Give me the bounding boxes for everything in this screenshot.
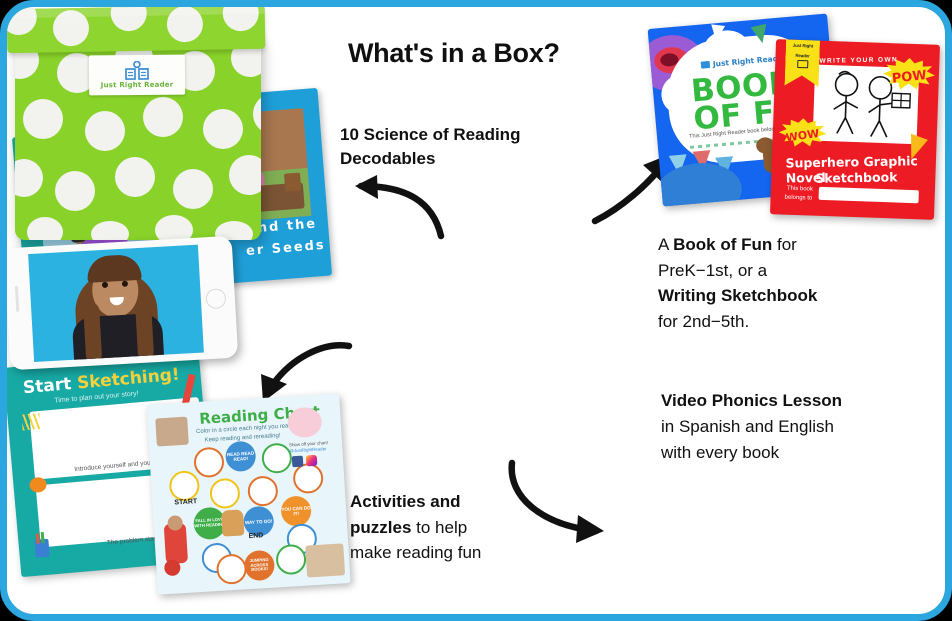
act-l2c: to help bbox=[411, 518, 467, 537]
book-of-fun-logo-icon bbox=[701, 61, 711, 69]
chart-start-label: START bbox=[174, 498, 197, 506]
poster-canvas: What's in a Box? Just Right Reader bbox=[0, 0, 952, 621]
bubble-label: READ READ READ! bbox=[225, 451, 256, 463]
callout-video-phonics: Video Phonics Lesson in Spanish and Engl… bbox=[661, 388, 911, 465]
bubble-label: WAY TO GO! bbox=[245, 518, 273, 525]
mailer-pouch: Just Right Reader bbox=[7, 7, 269, 242]
callout-activities: Activities and puzzles to help make read… bbox=[350, 489, 560, 566]
page-title: What's in a Box? bbox=[348, 38, 560, 69]
decodables-line2: Decodables bbox=[340, 147, 570, 171]
sketching-title-b: Sketching! bbox=[76, 365, 180, 394]
vp-l2: in Spanish and English bbox=[661, 414, 911, 440]
share-line2: @JustRightReader bbox=[289, 446, 326, 453]
sketchbook-top-text: WRITE YOUR OWN bbox=[819, 56, 898, 64]
video-phone bbox=[4, 236, 238, 371]
dog-sticker bbox=[221, 509, 245, 536]
phone-screen bbox=[28, 245, 204, 362]
wow-label: WOW bbox=[785, 126, 820, 144]
vp-l1: Video Phonics Lesson bbox=[661, 388, 911, 414]
sketchbook-cover: WRITE YOUR OWN POW WOW Superhero Graphic… bbox=[770, 39, 940, 220]
callout-decodables: 10 Science of Reading Decodables bbox=[340, 123, 570, 171]
chart-bubble: READ READ READ! bbox=[225, 441, 257, 473]
student-photo-2 bbox=[305, 543, 345, 577]
chart-bubble: YOU CAN DO IT! bbox=[280, 495, 312, 527]
bof-l2: PreK−1st, or a bbox=[658, 258, 908, 284]
vp-l3: with every book bbox=[661, 440, 911, 466]
arrow-to-decodables bbox=[337, 172, 447, 240]
mailer-label: Just Right Reader bbox=[89, 55, 185, 96]
belongs-line1: This book bbox=[787, 186, 813, 193]
bubble-label: YOU CAN DO IT! bbox=[281, 505, 312, 517]
chart-bubble: JUMPING ACROSS BOOKS! bbox=[243, 550, 275, 582]
reading-chart-sheet: Reading Chart Color in a circle each nig… bbox=[146, 393, 350, 594]
decodables-line1: 10 Science of Reading bbox=[340, 123, 570, 147]
bof-l4: for 2nd−5th. bbox=[658, 309, 908, 335]
bubble-label: JUMPING ACROSS BOOKS! bbox=[244, 558, 275, 574]
instagram-icon bbox=[306, 455, 318, 467]
student-photo-1 bbox=[155, 417, 189, 447]
brand-ribbon-icon: Just Right Reader bbox=[784, 39, 820, 87]
sketchbook-title-line2: Sketchbook bbox=[815, 169, 897, 185]
unicorn-sticker bbox=[287, 406, 323, 438]
callout-book-of-fun: A Book of Fun for PreK−1st, or a Writing… bbox=[658, 232, 908, 334]
ribbon-line2: Reader bbox=[785, 48, 819, 59]
ribbon-book-icon bbox=[797, 60, 808, 68]
act-l1: Activities and bbox=[350, 489, 560, 515]
open-book-icon bbox=[124, 61, 150, 81]
belongs-write-in-bar bbox=[819, 187, 919, 203]
act-l2b: puzzles bbox=[350, 518, 411, 537]
bof-l1a: A bbox=[658, 235, 673, 254]
bof-l1c: for bbox=[772, 235, 797, 254]
facebook-icon bbox=[292, 456, 304, 468]
poster-frame: What's in a Box? Just Right Reader bbox=[0, 0, 952, 621]
sketching-title-a: Start bbox=[22, 374, 78, 399]
act-l3: make reading fun bbox=[350, 540, 560, 566]
bof-l1b: Book of Fun bbox=[673, 235, 772, 254]
bof-l3: Writing Sketchbook bbox=[658, 283, 908, 309]
chart-end-label: END bbox=[248, 532, 263, 540]
belongs-line2: belongs to bbox=[784, 195, 812, 202]
mailer-label-text: Just Right Reader bbox=[101, 81, 174, 90]
mailer-flap bbox=[7, 5, 266, 53]
